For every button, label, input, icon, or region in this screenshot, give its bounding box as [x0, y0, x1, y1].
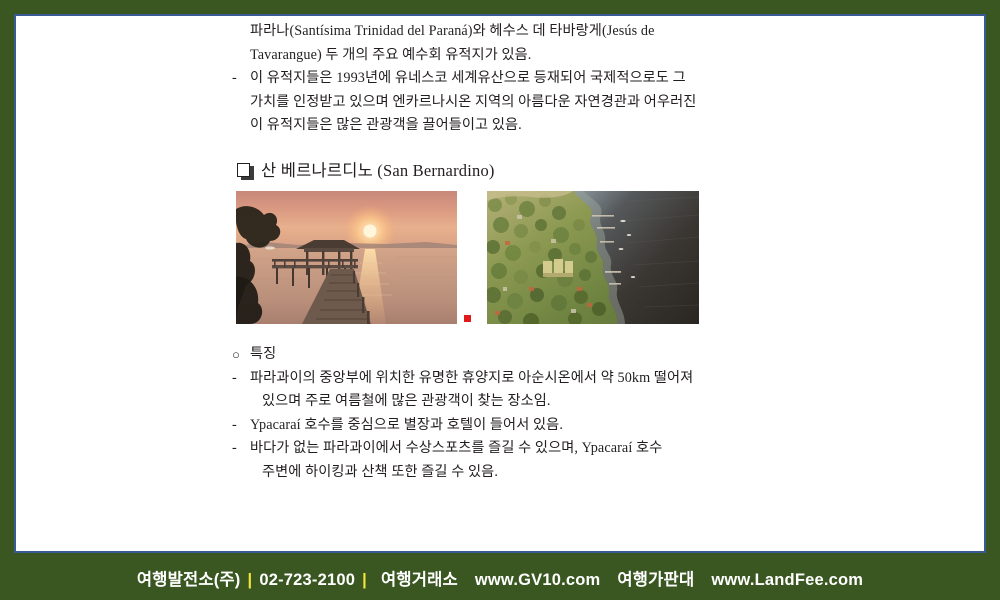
features-block: ○ 특징 - 파라과이의 중앙부에 위치한 유명한 휴양지로 아순시온에서 약 … — [232, 343, 772, 484]
intro-line: 가치를 인정받고 있으며 엔카르나시온 지역의 아름다운 자연경관과 어우러진 — [232, 91, 752, 115]
feature-item-cont: 주변에 하이킹과 산책 또한 즐길 수 있음. — [232, 461, 772, 485]
footer-separator: | — [241, 571, 260, 590]
footer-content: 여행발전소(주) | 02-723-2100 | 여행거래소 www.GV10.… — [137, 566, 863, 590]
red-square-marker — [464, 315, 471, 322]
photo-row — [236, 191, 706, 331]
slide-page: 파라나(Santísima Trinidad del Paraná)와 헤수스 … — [14, 14, 986, 553]
slide-canvas: 파라나(Santísima Trinidad del Paraná)와 헤수스 … — [0, 0, 1000, 600]
feature-item: - Ypacaraí 호수를 중심으로 별장과 호텔이 들어서 있음. — [232, 414, 772, 438]
section-heading: 산 베르나르디노 (San Bernardino) — [237, 162, 495, 180]
intro-line-bulleted: - 이 유적지들은 1993년에 유네스코 세계유산으로 등재되어 국제적으로도… — [232, 67, 752, 91]
feature-item: - 파라과이의 중앙부에 위치한 유명한 휴양지로 아순시온에서 약 50km … — [232, 367, 772, 391]
intro-line: 파라나(Santísima Trinidad del Paraná)와 헤수스 … — [232, 20, 752, 44]
photo-aerial-lakeshore — [487, 191, 699, 324]
feature-item-text: 바다가 없는 파라과이에서 수상스포츠를 즐길 수 있으며, Ypacaraí … — [250, 440, 662, 456]
dash-bullet-icon: - — [232, 437, 237, 461]
footer-company: 여행발전소(주) — [137, 566, 241, 590]
photo-sunset-pier — [236, 191, 457, 324]
footer-bar: 여행발전소(주) | 02-723-2100 | 여행거래소 www.GV10.… — [0, 555, 1000, 600]
feature-item-text: 파라과이의 중앙부에 위치한 유명한 휴양지로 아순시온에서 약 50km 떨어… — [250, 370, 693, 386]
dash-bullet-icon: - — [232, 67, 237, 91]
dash-bullet-icon: - — [232, 414, 237, 438]
footer-brand2-url[interactable]: www.LandFee.com — [694, 571, 863, 590]
intro-line: Tavarangue) 두 개의 주요 예수회 유적지가 있음. — [232, 44, 752, 68]
dash-bullet-icon: - — [232, 367, 237, 391]
feature-item: - 바다가 없는 파라과이에서 수상스포츠를 즐길 수 있으며, Ypacara… — [232, 437, 772, 461]
features-heading-row: ○ 특징 — [232, 343, 772, 367]
footer-brand1-url[interactable]: www.GV10.com — [458, 571, 601, 590]
section-title: 산 베르나르디노 (San Bernardino) — [261, 162, 495, 180]
footer-brand1-label: 여행거래소 — [374, 566, 458, 590]
intro-line-text: 이 유적지들은 1993년에 유네스코 세계유산으로 등재되어 국제적으로도 그 — [250, 70, 686, 86]
footer-separator: | — [355, 571, 374, 590]
feature-item-text: Ypacaraí 호수를 중심으로 별장과 호텔이 들어서 있음. — [250, 417, 563, 433]
book-page-icon — [237, 163, 254, 180]
footer-phone: 02-723-2100 — [259, 571, 355, 590]
features-heading: 특징 — [250, 346, 276, 362]
footer-brand2-label: 여행가판대 — [600, 566, 694, 590]
intro-line: 이 유적지들은 많은 관광객을 끌어들이고 있음. — [232, 114, 752, 138]
circle-bullet-icon: ○ — [232, 343, 240, 367]
intro-paragraph-block: 파라나(Santísima Trinidad del Paraná)와 헤수스 … — [232, 20, 752, 138]
feature-item-cont: 있으며 주로 여름철에 많은 관광객이 찾는 장소임. — [232, 390, 772, 414]
